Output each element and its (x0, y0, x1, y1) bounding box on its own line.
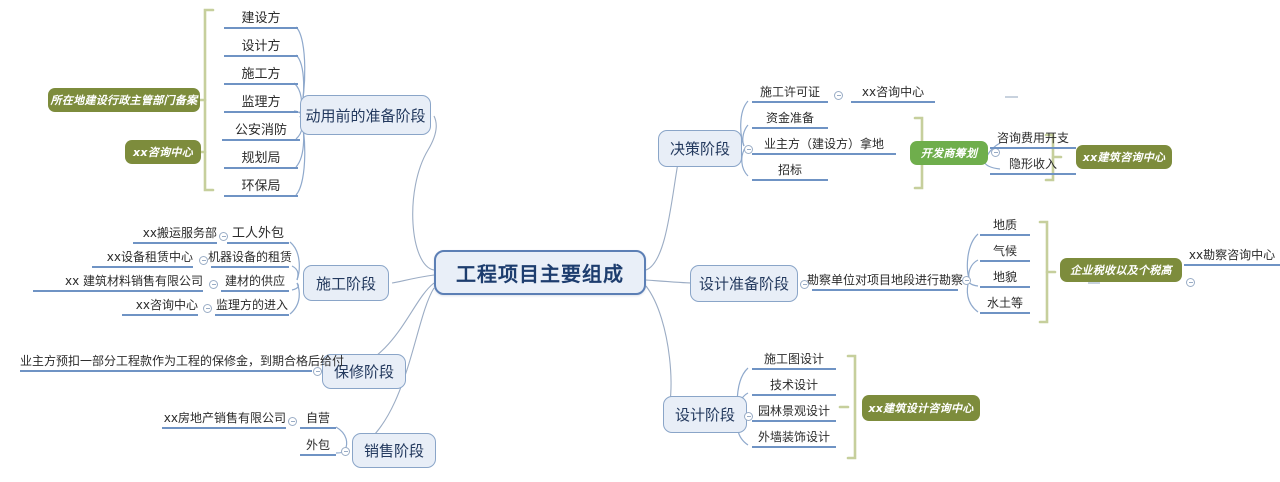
collapse-toggle[interactable] (834, 91, 843, 100)
list-item-vendor[interactable]: xx咨询中心 (851, 84, 935, 103)
list-item[interactable]: 工人外包 (227, 225, 289, 244)
topic-node-sales[interactable]: 销售阶段 (352, 433, 436, 468)
list-item[interactable]: 监理方的进入 (215, 297, 289, 316)
list-item[interactable]: 监理方 (224, 94, 298, 113)
list-item[interactable]: 施工方 (224, 66, 298, 85)
leaf-label: 资金准备 (766, 109, 814, 126)
leaf-label: 公安消防 (235, 119, 287, 138)
pill-label: xx建筑设计咨询中心 (868, 400, 973, 416)
leaf-label: 施工许可证 (760, 83, 820, 100)
leaf-label: 勘察单位对项目地段进行勘察 (807, 271, 963, 288)
pill-label: 开发商筹划 (921, 145, 978, 161)
topic-label-design: 设计阶段 (675, 404, 735, 425)
pill-label: xx咨询中心 (133, 144, 193, 160)
leaf-label: 地貌 (993, 268, 1017, 285)
callout-pill-arch-consult[interactable]: xx建筑咨询中心 (1076, 145, 1172, 169)
list-item[interactable]: 环保局 (224, 178, 298, 197)
topic-node-construction[interactable]: 施工阶段 (303, 265, 389, 301)
collapse-toggle[interactable] (962, 276, 971, 285)
vendor-label: xx勘察咨询中心 (1189, 246, 1275, 263)
topic-node-prep[interactable]: 动用前的准备阶段 (300, 95, 431, 135)
collapse-toggle[interactable] (744, 412, 753, 421)
callout-pill-prep-filing[interactable]: 所在地建设行政主管部门备案 (48, 88, 200, 112)
topic-label-prep: 动用前的准备阶段 (305, 105, 425, 126)
list-item[interactable]: 地貌 (980, 269, 1030, 288)
vendor-label: xx 建筑材料销售有限公司 (65, 272, 203, 289)
list-item[interactable]: 地质 (980, 217, 1030, 236)
list-item[interactable]: 设计方 (224, 38, 298, 57)
list-item[interactable]: 园林景观设计 (752, 403, 836, 422)
mind-map-canvas: 工程项目主要组成 动用前的准备阶段 施工阶段 保修阶段 销售阶段 决策阶段 设计… (0, 0, 1280, 482)
list-item-vendor[interactable]: xx房地产销售有限公司 (162, 410, 286, 429)
collapse-toggle[interactable] (219, 232, 228, 241)
collapse-toggle[interactable] (313, 367, 322, 376)
leaf-label: 招标 (778, 161, 802, 178)
leaf-label: 建设方 (241, 7, 280, 26)
topic-label-decision: 决策阶段 (670, 138, 730, 159)
list-item[interactable]: 施工图设计 (752, 351, 836, 370)
topic-node-decision[interactable]: 决策阶段 (658, 130, 742, 167)
vendor-label: xx搬运服务部 (143, 224, 217, 241)
callout-pill-design-consult[interactable]: xx建筑设计咨询中心 (862, 395, 980, 421)
collapse-toggle[interactable] (341, 447, 350, 456)
topic-label-construction: 施工阶段 (316, 273, 376, 294)
topic-node-design-prep[interactable]: 设计准备阶段 (690, 265, 798, 302)
leaf-label: 机器设备的租赁 (208, 248, 292, 265)
callout-pill-tax[interactable]: 企业税收以及个税高 (1060, 258, 1182, 282)
list-item-vendor[interactable]: xx设备租赁中心 (92, 249, 193, 268)
list-item-vendor[interactable]: xx 建筑材料销售有限公司 (33, 273, 203, 292)
leaf-label: 水土等 (987, 294, 1023, 311)
list-item-vendor[interactable]: xx勘察咨询中心 (1184, 247, 1280, 266)
list-item-vendor[interactable]: xx咨询中心 (122, 297, 198, 316)
collapse-toggle[interactable] (203, 304, 212, 313)
list-item[interactable]: 咨询费用开支 (990, 130, 1076, 149)
leaf-label: 地质 (993, 216, 1017, 233)
root-node[interactable]: 工程项目主要组成 (434, 250, 646, 295)
vendor-label: xx设备租赁中心 (107, 248, 193, 265)
list-item[interactable]: 自营 (300, 410, 336, 429)
leaf-label: 自营 (306, 409, 330, 426)
collapse-toggle[interactable] (800, 280, 809, 289)
pill-label: xx建筑咨询中心 (1083, 149, 1166, 165)
collapse-toggle[interactable] (209, 280, 218, 289)
root-label: 工程项目主要组成 (456, 258, 624, 287)
vendor-label: xx房地产销售有限公司 (164, 409, 286, 426)
leaf-label: 施工图设计 (764, 350, 824, 367)
leaf-label: 业主方预扣一部分工程款作为工程的保修金，到期合格后给付 (20, 352, 344, 369)
list-item[interactable]: 施工许可证 (752, 84, 828, 103)
list-item[interactable]: 水土等 (980, 295, 1030, 314)
topic-label-sales: 销售阶段 (364, 440, 424, 461)
list-item-vendor[interactable]: xx搬运服务部 (133, 225, 217, 244)
leaf-label: 气候 (993, 242, 1017, 259)
list-item[interactable]: 建设方 (224, 10, 298, 29)
vendor-label: xx咨询中心 (862, 83, 924, 100)
leaf-label: 建材的供应 (225, 272, 285, 289)
topic-node-design[interactable]: 设计阶段 (663, 396, 747, 433)
list-item[interactable]: 气候 (980, 243, 1030, 262)
callout-pill-developer-planning[interactable]: 开发商筹划 (910, 141, 988, 165)
list-item[interactable]: 业主方（建设方）拿地 (752, 136, 896, 155)
leaf-label: 监理方的进入 (216, 296, 288, 313)
leaf-label: 施工方 (241, 63, 280, 82)
leaf-label: 监理方 (241, 91, 280, 110)
collapse-toggle[interactable] (199, 256, 208, 265)
collapse-toggle[interactable] (288, 417, 297, 426)
topic-label-design-prep: 设计准备阶段 (699, 273, 789, 294)
pill-label: 企业税收以及个税高 (1070, 262, 1172, 278)
leaf-label: 外墙装饰设计 (758, 428, 830, 445)
list-item[interactable]: 规划局 (224, 150, 298, 169)
callout-pill-prep-consult[interactable]: xx咨询中心 (125, 140, 201, 164)
collapse-toggle[interactable] (1186, 278, 1195, 287)
list-item[interactable]: 机器设备的租赁 (211, 249, 289, 268)
list-item[interactable]: 外墙装饰设计 (752, 429, 836, 448)
list-item[interactable]: 资金准备 (752, 110, 828, 129)
pill-label: 所在地建设行政主管部门备案 (51, 92, 198, 108)
list-item[interactable]: 招标 (752, 162, 828, 181)
leaf-label: 环保局 (241, 175, 280, 194)
leaf-label: 设计方 (241, 35, 280, 54)
list-item[interactable]: 隐形收入 (990, 156, 1076, 175)
collapse-toggle[interactable] (744, 145, 753, 154)
list-item[interactable]: 建材的供应 (221, 273, 289, 292)
vendor-label: xx咨询中心 (136, 296, 198, 313)
leaf-label: 咨询费用开支 (997, 129, 1069, 146)
leaf-label: 业主方（建设方）拿地 (764, 135, 884, 152)
list-item[interactable]: 公安消防 (222, 122, 300, 141)
leaf-label: 隐形收入 (1009, 155, 1057, 172)
leaf-label: 规划局 (241, 147, 280, 166)
leaf-label: 外包 (306, 436, 330, 453)
list-item[interactable]: 技术设计 (752, 377, 836, 396)
leaf-label: 技术设计 (770, 376, 818, 393)
list-item[interactable]: 业主方预扣一部分工程款作为工程的保修金，到期合格后给付 (20, 353, 312, 372)
list-item[interactable]: 外包 (300, 437, 336, 456)
leaf-label: 园林景观设计 (758, 402, 830, 419)
list-item[interactable]: 勘察单位对项目地段进行勘察 (812, 272, 958, 291)
leaf-label: 工人外包 (232, 222, 284, 241)
